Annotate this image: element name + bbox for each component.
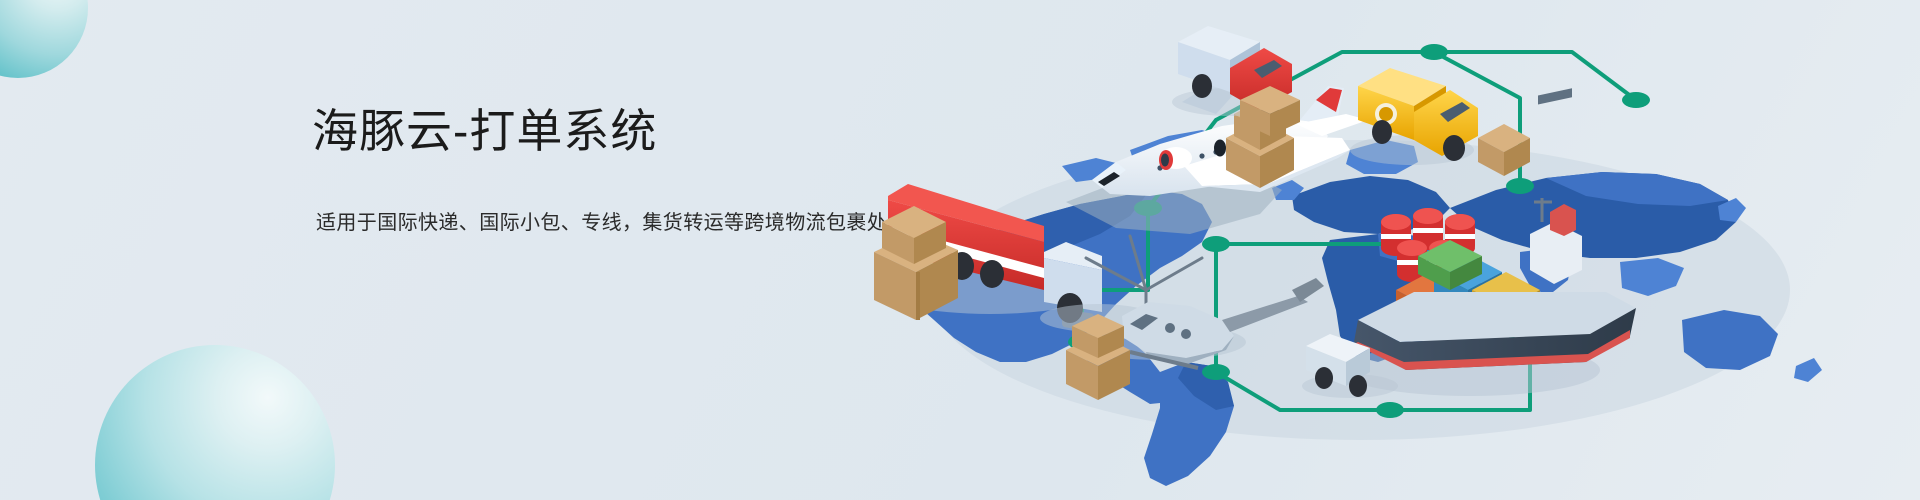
ship-bridge-window (1538, 88, 1572, 104)
network-node (1202, 236, 1230, 252)
cardboard-boxes-center (1066, 314, 1130, 400)
global-logistics-illustration (830, 0, 1920, 500)
van-wheel (1192, 74, 1212, 98)
truck-wheel (980, 260, 1004, 288)
decorative-sphere-top-left (0, 0, 88, 78)
landmass-new-zealand (1794, 358, 1822, 382)
network-node (1420, 44, 1448, 60)
network-node (1622, 92, 1650, 108)
hero-text-block: 海豚云-打单系统 适用于国际快递、国际小包、专线，集货转运等跨境物流包裹处理 (312, 104, 908, 237)
page-title: 海豚云-打单系统 (312, 104, 908, 159)
network-node (1376, 402, 1404, 418)
network-node (1202, 364, 1230, 380)
decorative-sphere-bottom-left (95, 345, 335, 500)
helicopter-window (1165, 323, 1175, 333)
page-subtitle: 适用于国际快递、国际小包、专线，集货转运等跨境物流包裹处理 (316, 209, 908, 237)
network-line-9 (1434, 52, 1636, 100)
hero-banner: 海豚云-打单系统 适用于国际快递、国际小包、专线，集货转运等跨境物流包裹处理 (0, 0, 1920, 500)
cardboard-boxes-left (874, 206, 958, 320)
yellow-van-wheel (1372, 120, 1392, 144)
helicopter-window (1181, 329, 1191, 339)
network-node (1506, 178, 1534, 194)
yellow-van-wheel (1443, 135, 1465, 161)
yellow-delivery-van (1350, 68, 1478, 165)
